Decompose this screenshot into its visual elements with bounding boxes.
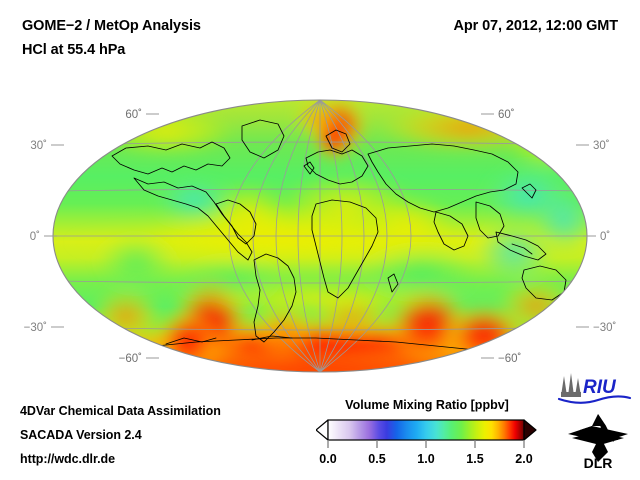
timestamp-label: Apr 07, 2012, 12:00 GMT	[453, 18, 618, 34]
lat-label-right-0: 0˚	[600, 231, 610, 243]
dlr-logo: DLR	[562, 412, 634, 470]
riu-logo: RIU	[556, 372, 632, 406]
page-title: GOME−2 / MetOp Analysis	[22, 18, 201, 34]
lat-label-left-60n: 60˚	[125, 109, 142, 121]
lat-label-left-60s: −60˚	[119, 353, 142, 365]
footer-line-assimilation: 4DVar Chemical Data Assimilation	[20, 404, 221, 418]
footer-line-url[interactable]: http://wdc.dlr.de	[20, 452, 115, 466]
lat-label-right-30s: −30˚	[593, 322, 616, 334]
riu-spires-icon	[561, 373, 581, 397]
lat-label-right-60s: −60˚	[498, 353, 521, 365]
colorbar-tick-label-0: 0.0	[319, 452, 336, 466]
colorbar-gradient	[328, 420, 524, 440]
colorbar-ticks	[328, 440, 524, 448]
lat-label-left-0: 0˚	[30, 231, 40, 243]
lat-label-left-30n: 30˚	[30, 140, 47, 152]
world-map-plot: 60˚ 60˚ 30˚ 30˚ 0˚ 0˚ −30˚ −30˚ −60˚ −60…	[16, 92, 624, 382]
colorbar-tick-label-2: 1.0	[417, 452, 434, 466]
colorbar-tick-label-1: 0.5	[368, 452, 385, 466]
colorbar-min-arrow	[316, 420, 328, 440]
colorbar-tick-label-3: 1.5	[466, 452, 483, 466]
lat-label-right-30n: 30˚	[593, 140, 610, 152]
colorbar-max-arrow	[524, 420, 536, 440]
riu-wordmark: RIU	[583, 377, 617, 398]
lat-label-left-30s: −30˚	[24, 322, 47, 334]
page-subtitle: HCl at 55.4 hPa	[22, 42, 125, 58]
footer-line-version: SACADA Version 2.4	[20, 428, 142, 442]
colorbar-tick-label-4: 2.0	[515, 452, 532, 466]
lat-label-right-60n: 60˚	[498, 109, 515, 121]
dlr-wordmark: DLR	[584, 455, 613, 470]
colorbar: Volume Mixing Ratio [ppbv]	[316, 398, 538, 468]
colorbar-title: Volume Mixing Ratio [ppbv]	[316, 398, 538, 412]
